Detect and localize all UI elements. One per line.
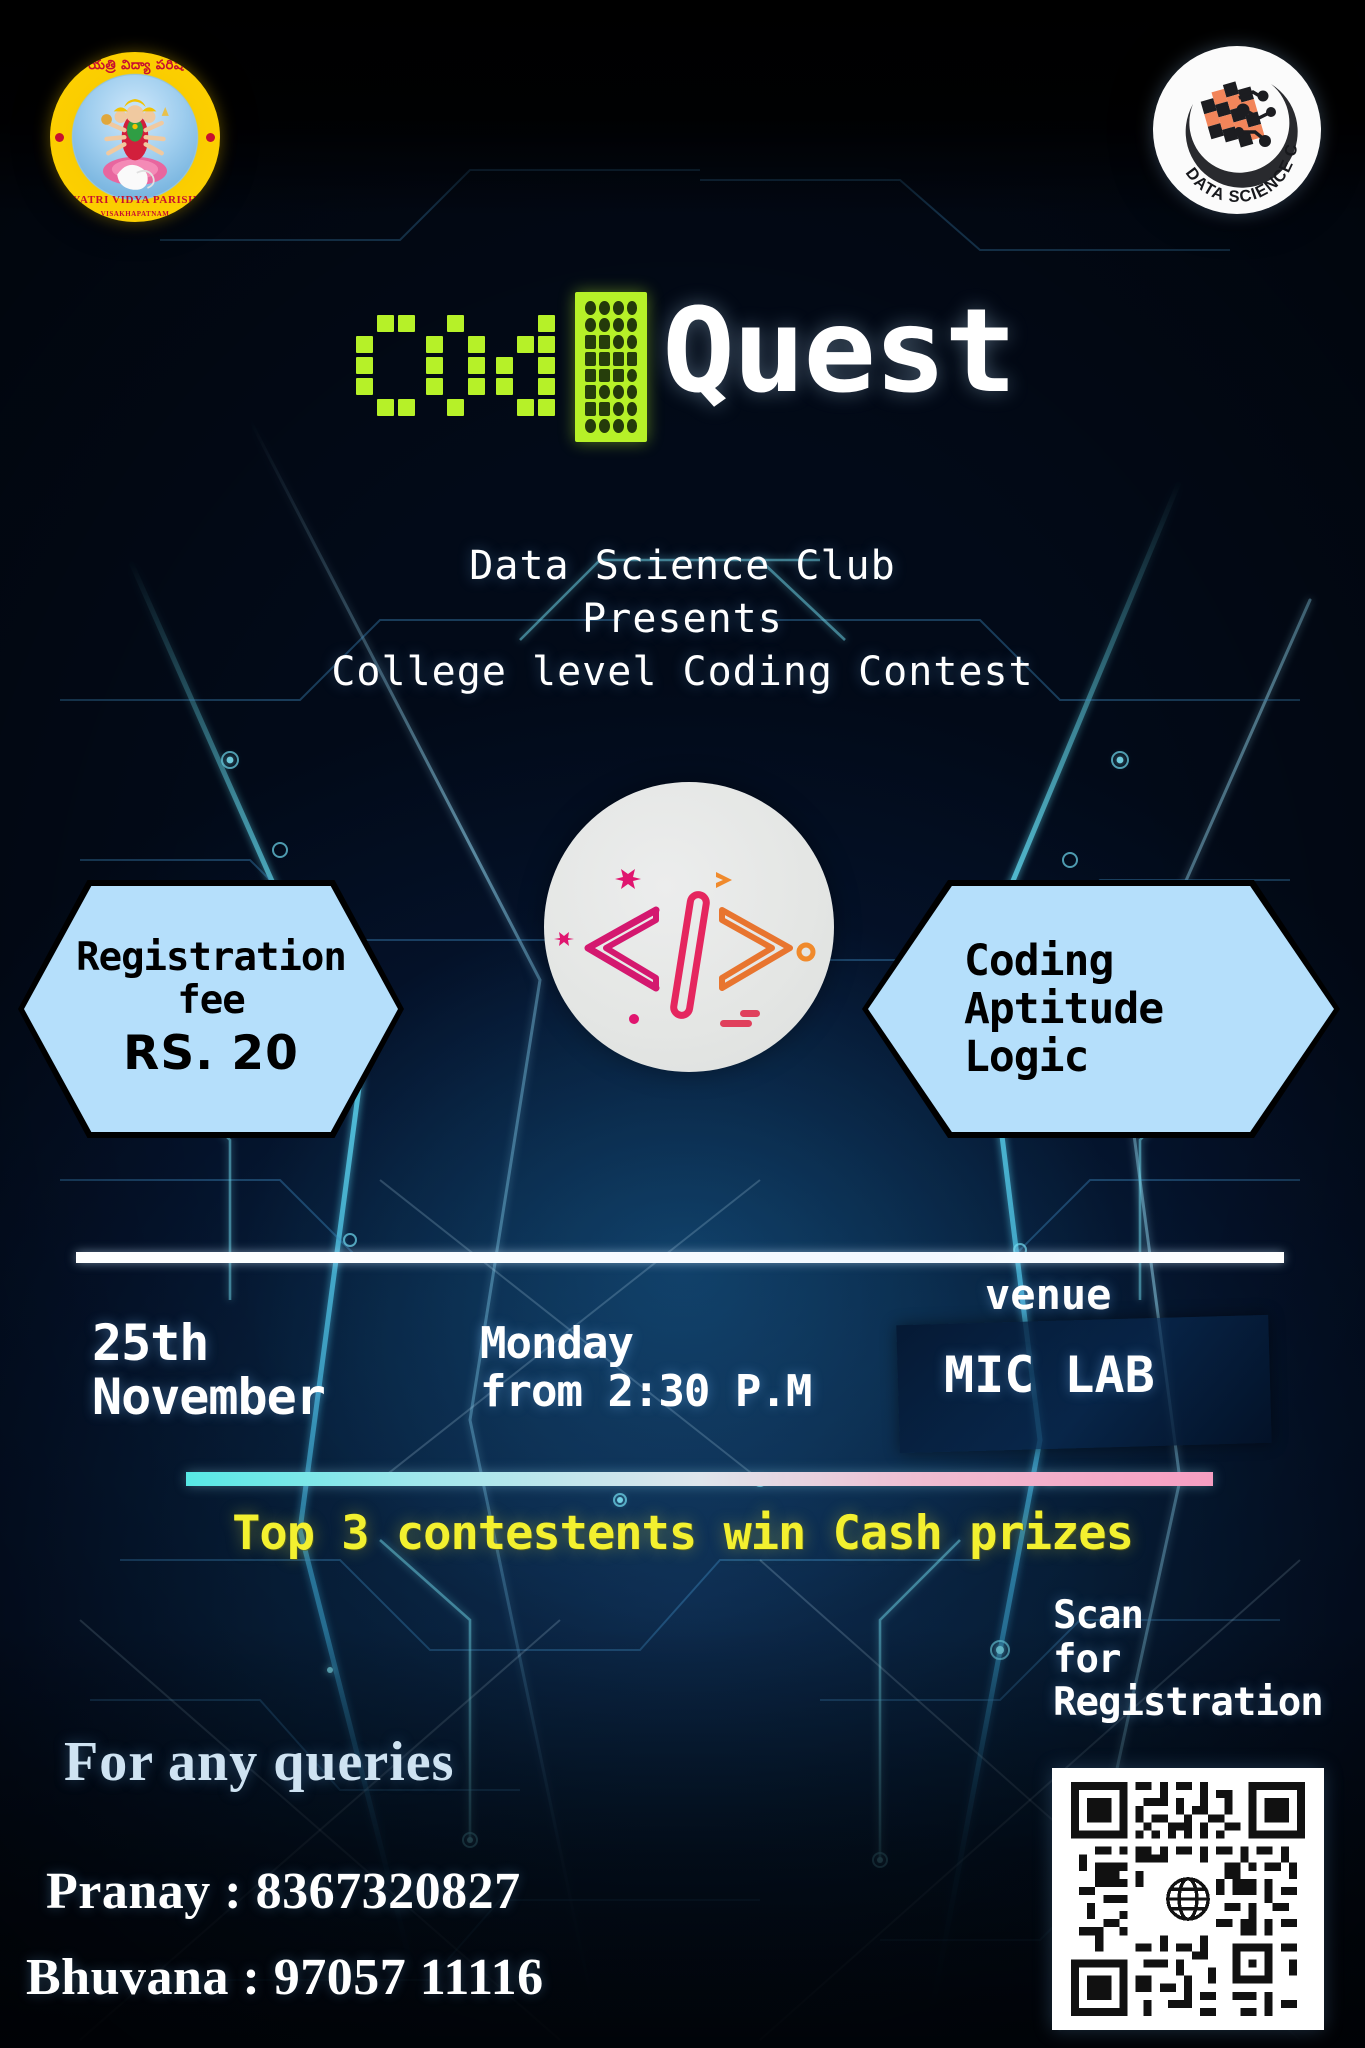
- gvp-inner-disc: [73, 75, 197, 199]
- subtitle-line-3: College level Coding Contest: [0, 646, 1365, 699]
- queries-heading: For any queries: [64, 1730, 454, 1794]
- contest-topics-badge: Coding Aptitude Logic: [862, 880, 1340, 1138]
- title-code-dotmatrix: [356, 292, 647, 416]
- subtitle-block: Data Science Club Presents College level…: [0, 540, 1365, 698]
- topic-aptitude: Aptitude: [868, 985, 1334, 1033]
- subtitle-line-1: Data Science Club: [0, 540, 1365, 593]
- topic-logic: Logic: [868, 1033, 1334, 1081]
- venue-label: venue: [985, 1272, 1111, 1317]
- code-symbol-graphic: [544, 782, 834, 1072]
- letter-d: [496, 315, 555, 416]
- contact-pranay: Pranay : 8367320827: [46, 1862, 521, 1921]
- letter-e-block: [575, 292, 647, 442]
- event-date-month: November: [92, 1370, 325, 1424]
- event-title: Quest: [0, 292, 1365, 416]
- code-brackets-icon: [544, 782, 834, 1072]
- event-time: Monday from 2:30 P.M: [480, 1320, 811, 1415]
- gvp-dot-left: [55, 133, 64, 142]
- subtitle-line-2: Presents: [0, 593, 1365, 646]
- registration-fee-amount: RS. 20: [123, 1026, 299, 1081]
- registration-fee-label-1: Registration: [76, 937, 346, 979]
- data-science-club-logo: DATA SCIENCE CLUB: [1153, 46, 1321, 214]
- registration-fee-label-2: fee: [177, 980, 244, 1022]
- venue-value: MIC LAB: [944, 1348, 1155, 1402]
- gvp-city-text: VISAKHAPATNAM: [50, 210, 220, 218]
- scan-instructions: Scan for Registration: [1053, 1594, 1323, 1725]
- registration-fee-badge-inner: Registration fee RS. 20: [24, 886, 398, 1132]
- event-start-time: from 2:30 P.M: [480, 1368, 811, 1416]
- event-date-day: 25th: [92, 1316, 325, 1370]
- gvp-english-text: GAYATRI VIDYA PARISHAD: [50, 194, 220, 206]
- qr-code-matrix: [1066, 1782, 1310, 2016]
- contact-bhuvana: Bhuvana : 97057 11116: [26, 1948, 544, 2007]
- registration-qr-code[interactable]: [1052, 1768, 1324, 2030]
- prize-announcement: Top 3 contestents win Cash prizes: [0, 1506, 1365, 1561]
- scan-line-1: Scan: [1053, 1594, 1323, 1638]
- gvp-telugu-text: గాయత్రి విద్యా పరిషత్: [50, 58, 220, 76]
- title-quest-word: Quest: [663, 294, 1016, 410]
- divider-white: [76, 1252, 1284, 1263]
- registration-fee-badge: Registration fee RS. 20: [18, 880, 404, 1138]
- event-date: 25th November: [92, 1316, 325, 1424]
- gayatri-vidya-parishad-logo: గాయత్రి విద్యా పరిషత్: [50, 52, 220, 222]
- letter-o: [426, 315, 485, 416]
- event-weekday: Monday: [480, 1320, 811, 1368]
- topic-coding: Coding: [868, 937, 1334, 985]
- letter-c: [356, 315, 415, 416]
- scan-line-3: Registration: [1053, 1681, 1323, 1725]
- gvp-dot-right: [206, 133, 215, 142]
- scan-line-2: for: [1053, 1638, 1323, 1682]
- dsc-emblem-icon: DATA SCIENCE CLUB: [1153, 46, 1321, 214]
- letter-e-dot-grid: [585, 301, 637, 433]
- poster-root: గాయత్రి విద్యా పరిషత్: [0, 0, 1365, 2048]
- gayatri-devi-illustration: [89, 86, 181, 193]
- contest-topics-badge-inner: Coding Aptitude Logic: [868, 886, 1334, 1132]
- divider-gradient: [186, 1472, 1213, 1486]
